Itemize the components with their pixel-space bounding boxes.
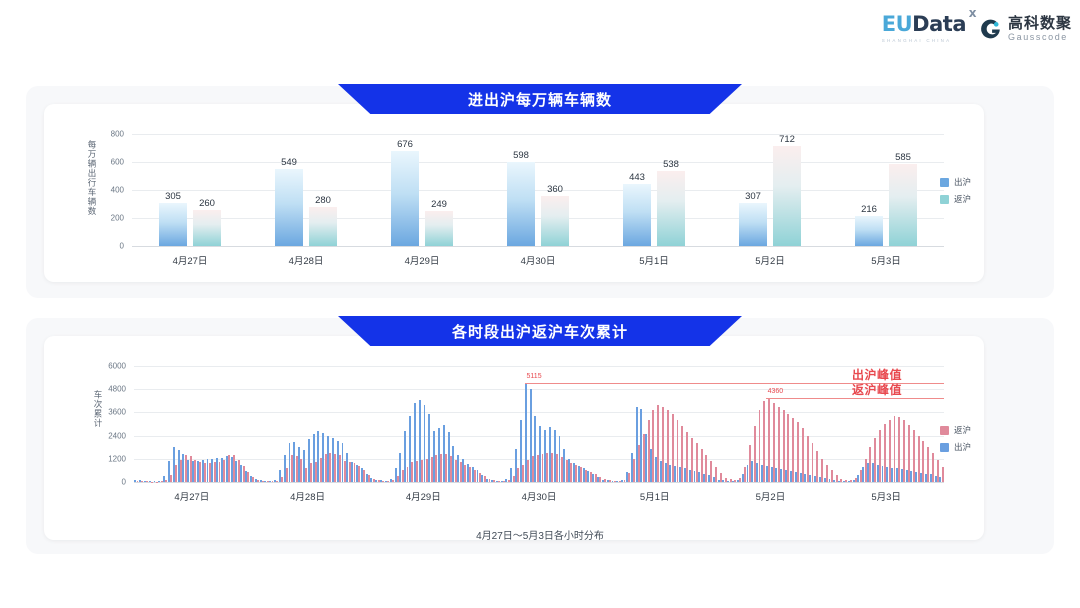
chart1-bar-value: 585 — [895, 152, 911, 163]
chart1-bar-返沪 — [193, 210, 221, 246]
chart1-bar-value: 712 — [779, 134, 795, 145]
chart2-annotation-label-ret: 返沪峰值 — [852, 381, 902, 398]
chart2-annotation-line-ret — [766, 398, 944, 399]
chart2-legend-label: 出沪 — [954, 441, 971, 453]
chart1-gridline — [132, 162, 944, 163]
dashboard-page: EUDatax SHANGHAI CHINA 高科数聚 Gausscode 进出… — [0, 0, 1080, 608]
chart1-bar-返沪 — [773, 146, 801, 246]
chart1-bar-出沪 — [159, 203, 187, 246]
evdata-superscript-x: x — [969, 7, 976, 19]
chart2-x-tick: 4月29日 — [406, 489, 441, 503]
chart1-bar-value: 249 — [431, 199, 447, 210]
gausscode-en-name: Gausscode — [1008, 33, 1072, 42]
chart1-bar-出沪 — [391, 151, 419, 246]
chart1-x-tick: 4月29日 — [405, 253, 440, 267]
chart1-legend-swatch — [940, 178, 949, 187]
chart2-gridline — [134, 482, 944, 483]
chart1-bar-value: 443 — [629, 172, 645, 183]
gausscode-mark-icon — [980, 18, 1002, 40]
chart1-bar-value: 360 — [547, 184, 563, 195]
chart2-annotation-value-ret: 4360 — [768, 388, 784, 395]
chart2-y-tick: 2400 — [90, 431, 126, 440]
chart2-bar-ret — [942, 467, 944, 482]
chart1-y-tick: 800 — [90, 130, 124, 139]
chart2-plot-area: 车次累计0120024003600480060004月27日4月28日4月29日… — [88, 352, 944, 504]
chart2-x-tick: 5月1日 — [640, 489, 670, 503]
chart2-gridline — [134, 366, 944, 367]
chart1-bar-出沪 — [855, 216, 883, 246]
chart2-y-tick: 0 — [90, 478, 126, 487]
chart2-legend-swatch — [940, 443, 949, 452]
chart1-bar-value: 598 — [513, 150, 529, 161]
chart1-y-tick: 0 — [90, 242, 124, 251]
chart1-x-tick: 4月28日 — [289, 253, 324, 267]
chart1-bar-出沪 — [507, 162, 535, 246]
chart1-gridline — [132, 246, 944, 247]
gausscode-cn-name: 高科数聚 — [1008, 16, 1072, 31]
chart1-bar-返沪 — [657, 171, 685, 246]
evdata-wordmark: EUDatax — [882, 14, 966, 35]
chart1-title-banner: 进出沪每万辆车辆数 — [338, 84, 742, 114]
chart2-legend: 返沪出沪 — [940, 424, 971, 458]
chart1-bar-返沪 — [889, 164, 917, 246]
chart2-y-tick: 6000 — [90, 362, 126, 371]
gausscode-logo: 高科数聚 Gausscode — [980, 16, 1072, 42]
chart2-legend-swatch — [940, 426, 949, 435]
chart2-x-tick: 5月3日 — [871, 489, 901, 503]
chart2-legend-label: 返沪 — [954, 424, 971, 436]
chart2-legend-item-出沪[interactable]: 出沪 — [940, 441, 971, 453]
chart2-x-caption: 4月27日～5月3日各小时分布 — [0, 527, 1080, 542]
chart1-legend-label: 返沪 — [954, 193, 971, 205]
chart2-title-banner: 各时段出沪返沪车次累计 — [338, 316, 742, 346]
evdata-logo: EUDatax SHANGHAI CHINA — [882, 14, 966, 43]
evdata-ev-text: EU — [882, 12, 912, 36]
evdata-data-text: Data — [912, 12, 966, 36]
chart1-legend-item-出沪[interactable]: 出沪 — [940, 176, 971, 188]
chart2-y-tick: 4800 — [90, 385, 126, 394]
chart2-gridline — [134, 389, 944, 390]
chart1-y-tick: 400 — [90, 186, 124, 195]
evdata-tagline: SHANGHAI CHINA — [882, 38, 952, 43]
chart1-gridline — [132, 190, 944, 191]
chart1-y-tick: 600 — [90, 158, 124, 167]
chart2-y-tick: 3600 — [90, 408, 126, 417]
chart1-gridline — [132, 134, 944, 135]
chart1-x-tick: 4月27日 — [173, 253, 208, 267]
chart1-bar-value: 538 — [663, 159, 679, 170]
chart1-bar-value: 216 — [861, 204, 877, 215]
chart1-x-tick: 5月2日 — [755, 253, 785, 267]
chart1-bar-value: 676 — [397, 139, 413, 150]
chart2-x-tick: 4月27日 — [174, 489, 209, 503]
chart1-legend-label: 出沪 — [954, 176, 971, 188]
chart1-legend-item-返沪[interactable]: 返沪 — [940, 193, 971, 205]
chart1-legend-swatch — [940, 195, 949, 204]
chart1-x-tick: 4月30日 — [521, 253, 556, 267]
chart1-plot-area: 每万辆出行车辆数02004006008003052604月27日5492804月… — [88, 118, 944, 268]
chart1-bar-value: 549 — [281, 157, 297, 168]
chart1-bar-value: 260 — [199, 198, 215, 209]
chart2-x-tick: 4月30日 — [522, 489, 557, 503]
chart2-x-tick: 5月2日 — [756, 489, 786, 503]
chart1-bar-value: 307 — [745, 191, 761, 202]
chart1-x-tick: 5月1日 — [639, 253, 669, 267]
chart1-bar-返沪 — [425, 211, 453, 246]
chart1-x-tick: 5月3日 — [871, 253, 901, 267]
chart2-annotation-value-out: 5115 — [527, 373, 542, 380]
chart2-gridline — [134, 412, 944, 413]
chart2-legend-item-返沪[interactable]: 返沪 — [940, 424, 971, 436]
header-logos: EUDatax SHANGHAI CHINA 高科数聚 Gausscode — [882, 14, 1072, 43]
chart1-gridline — [132, 218, 944, 219]
chart1-bar-返沪 — [541, 196, 569, 246]
chart1-legend: 出沪返沪 — [940, 176, 971, 210]
chart1-bar-value: 305 — [165, 191, 181, 202]
chart1-y-tick: 200 — [90, 214, 124, 223]
chart1-bar-返沪 — [309, 207, 337, 246]
chart2-y-tick: 1200 — [90, 454, 126, 463]
chart1-bar-出沪 — [623, 184, 651, 246]
chart1-bar-出沪 — [739, 203, 767, 246]
chart1-bar-出沪 — [275, 169, 303, 246]
chart1-bar-value: 280 — [315, 195, 331, 206]
chart2-x-tick: 4月28日 — [290, 489, 325, 503]
